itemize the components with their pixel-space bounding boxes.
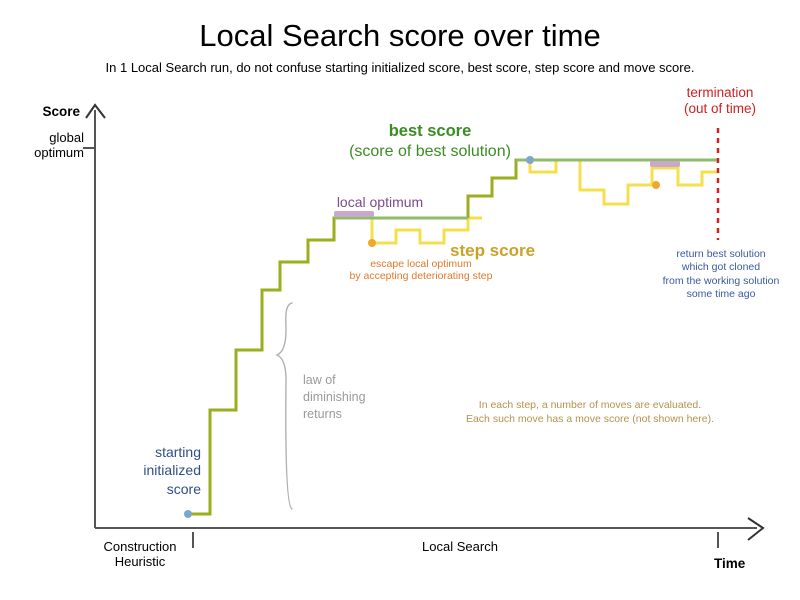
y-axis-label: Score — [18, 104, 80, 120]
local-search-score-figure: Local Search score over time In 1 Local … — [0, 0, 800, 600]
best-score-sublabel: (score of best solution) — [290, 143, 570, 162]
starting-initialized-score-label: starting initialized score — [88, 443, 201, 498]
law-of-diminishing-returns-brace — [277, 303, 292, 509]
series-layer — [188, 160, 718, 514]
marker-escape-local-optimum — [368, 239, 376, 247]
page-subtitle: In 1 Local Search run, do not confuse st… — [0, 60, 800, 75]
series-second-climb-to-global-optimum — [468, 160, 560, 218]
marker-escape-second — [652, 181, 660, 189]
local-optimum-label: local optimum — [300, 194, 460, 211]
page-title: Local Search score over time — [0, 18, 800, 55]
series-step-score-plateau-dips — [530, 160, 718, 204]
y-axis-global-optimum-label: global optimum — [8, 130, 84, 161]
move-score-note: In each step, a number of moves are eval… — [450, 398, 730, 426]
x-axis-label: Time — [714, 556, 745, 572]
highlight-second-optimum-bar — [650, 161, 680, 167]
best-score-label: best score — [300, 122, 560, 141]
escape-local-optimum-note: escape local optimum by accepting deteri… — [296, 258, 546, 283]
marker-starting-initialized-score — [184, 510, 192, 518]
x-axis-phase-construction-heuristic: Construction Heuristic — [86, 539, 194, 570]
law-of-diminishing-returns-label: law of diminishing returns — [303, 372, 413, 423]
termination-label: termination (out of time) — [650, 85, 790, 117]
return-best-solution-note: return best solution which got cloned fr… — [650, 248, 792, 302]
series-step-score-after-first-escape — [372, 218, 482, 243]
highlight-local-optimum-bar — [334, 211, 374, 217]
x-axis-phase-local-search: Local Search — [340, 539, 580, 554]
